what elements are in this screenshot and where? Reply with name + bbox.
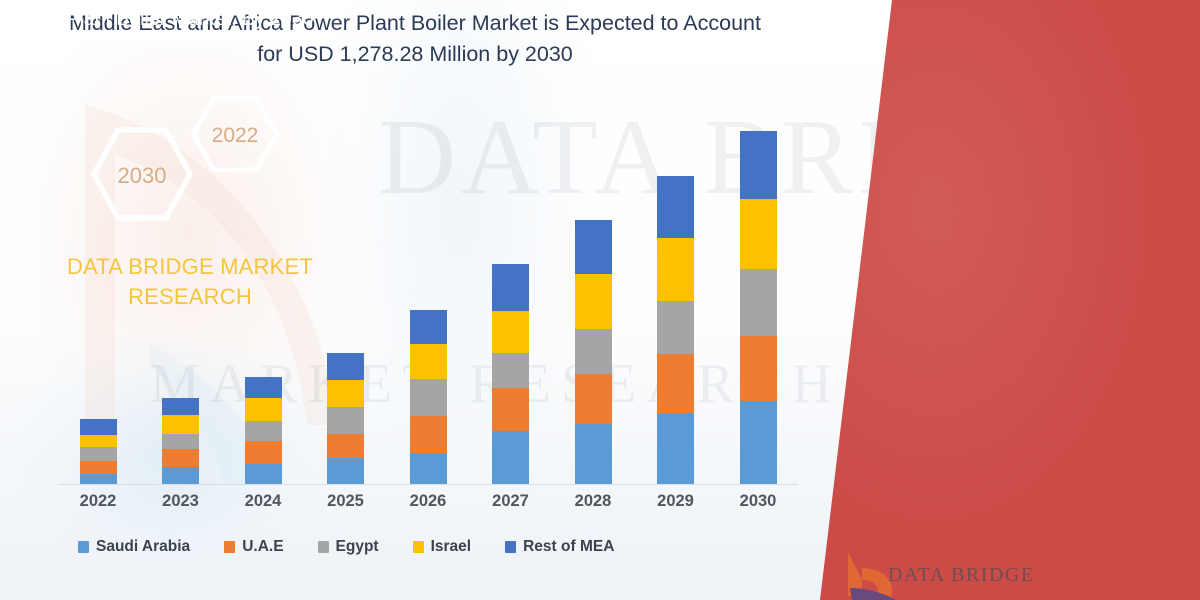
bar-segment[interactable] <box>657 413 694 484</box>
brand-line-1: DATA BRIDGE MARKET <box>67 254 313 279</box>
bar-stack-2025[interactable] <box>327 353 364 484</box>
svg-text:2030: 2030 <box>118 163 167 188</box>
infographic-canvas: DATA BRIDGE MARKET RESEARCH Middle East … <box>0 0 1200 600</box>
bar-stack-2027[interactable] <box>492 264 529 484</box>
bar-segment[interactable] <box>162 415 199 434</box>
bar-stack-2022[interactable] <box>80 419 117 484</box>
bar-segment[interactable] <box>492 431 529 484</box>
bar-segment[interactable] <box>162 398 199 415</box>
legend-item[interactable]: Saudi Arabia <box>78 538 190 556</box>
legend-item[interactable]: Rest of MEA <box>505 538 614 556</box>
bar-segment[interactable] <box>327 353 364 380</box>
bar-segment[interactable] <box>162 467 199 484</box>
bar-segment[interactable] <box>657 238 694 301</box>
bar-segment[interactable] <box>410 416 447 453</box>
bar-segment[interactable] <box>162 434 199 449</box>
brand-name: DATA BRIDGE MARKET RESEARCH <box>10 252 370 312</box>
bar-segment[interactable] <box>410 453 447 484</box>
bar-segment[interactable] <box>575 329 612 374</box>
x-axis-tick: 2022 <box>58 492 138 511</box>
hexagon-badges: 2022 2030 <box>18 88 358 228</box>
bar-segment[interactable] <box>492 311 529 353</box>
bar-stack-2028[interactable] <box>575 220 612 484</box>
hexagon-2030: 2030 <box>94 130 190 218</box>
bar-segment[interactable] <box>492 353 529 388</box>
bar-segment[interactable] <box>740 401 777 484</box>
bar-segment[interactable] <box>740 199 777 269</box>
bar-segment[interactable] <box>492 264 529 311</box>
x-axis-tick: 2028 <box>553 492 633 511</box>
legend-label: Israel <box>431 538 472 556</box>
bar-stack-2029[interactable] <box>657 176 694 484</box>
dbmr-logo-text: DATA BRIDGE <box>888 564 1035 587</box>
bar-segment[interactable] <box>492 388 529 431</box>
bar-column[interactable] <box>553 100 633 484</box>
bar-segment[interactable] <box>410 344 447 379</box>
bar-segment[interactable] <box>740 131 777 199</box>
bar-segment[interactable] <box>327 458 364 484</box>
legend-label: U.A.E <box>242 538 283 556</box>
bar-segment[interactable] <box>245 464 282 484</box>
chart-legend: Saudi ArabiaU.A.EEgyptIsraelRest of MEA <box>78 538 778 556</box>
bar-stack-2023[interactable] <box>162 398 199 484</box>
bar-segment[interactable] <box>245 398 282 421</box>
x-axis-labels: 202220232024202520262027202820292030 <box>58 492 798 511</box>
legend-item[interactable]: Israel <box>413 538 472 556</box>
bar-segment[interactable] <box>657 301 694 354</box>
legend-swatch-icon <box>78 541 89 553</box>
bar-segment[interactable] <box>80 435 117 447</box>
bar-segment[interactable] <box>80 419 117 435</box>
bar-column[interactable] <box>388 100 468 484</box>
legend-swatch-icon <box>413 541 424 553</box>
x-axis-tick: 2023 <box>141 492 221 511</box>
legend-item[interactable]: U.A.E <box>224 538 283 556</box>
bar-segment[interactable] <box>245 421 282 441</box>
bar-segment[interactable] <box>327 380 364 407</box>
bar-segment[interactable] <box>327 434 364 458</box>
bar-segment[interactable] <box>575 220 612 274</box>
legend-label: Egypt <box>336 538 379 556</box>
axis-baseline <box>58 484 798 485</box>
bar-segment[interactable] <box>740 269 777 336</box>
x-axis-tick: 2024 <box>223 492 303 511</box>
bar-stack-2030[interactable] <box>740 131 777 484</box>
bar-segment[interactable] <box>657 354 694 413</box>
brand-line-2: RESEARCH <box>128 284 252 309</box>
bar-segment[interactable] <box>327 407 364 434</box>
bar-segment[interactable] <box>575 374 612 424</box>
bar-column[interactable] <box>636 100 716 484</box>
bar-segment[interactable] <box>575 424 612 484</box>
legend-label: Rest of MEA <box>523 538 614 556</box>
bar-segment[interactable] <box>80 461 117 474</box>
legend-label: Saudi Arabia <box>96 538 190 556</box>
bar-segment[interactable] <box>162 449 199 467</box>
svg-text:2022: 2022 <box>212 124 259 147</box>
bar-segment[interactable] <box>410 310 447 344</box>
panel-title: Plant Boiler Market, By 2030 <box>20 8 360 31</box>
x-axis-tick: 2027 <box>471 492 551 511</box>
legend-swatch-icon <box>318 541 329 553</box>
x-axis-tick: 2030 <box>718 492 798 511</box>
bar-segment[interactable] <box>575 274 612 329</box>
legend-swatch-icon <box>224 541 235 553</box>
bar-segment[interactable] <box>80 474 117 484</box>
x-axis-tick: 2026 <box>388 492 468 511</box>
bar-segment[interactable] <box>740 336 777 401</box>
bar-column[interactable] <box>471 100 551 484</box>
hexagon-2022: 2022 <box>193 98 277 170</box>
bar-stack-2026[interactable] <box>410 310 447 484</box>
bar-segment[interactable] <box>410 379 447 416</box>
bar-segment[interactable] <box>657 176 694 238</box>
bar-segment[interactable] <box>245 441 282 464</box>
legend-item[interactable]: Egypt <box>318 538 379 556</box>
bar-segment[interactable] <box>245 377 282 398</box>
bar-column[interactable] <box>718 100 798 484</box>
legend-swatch-icon <box>505 541 516 553</box>
bar-stack-2024[interactable] <box>245 377 282 484</box>
x-axis-tick: 2029 <box>636 492 716 511</box>
x-axis-tick: 2025 <box>306 492 386 511</box>
bar-segment[interactable] <box>80 447 117 461</box>
